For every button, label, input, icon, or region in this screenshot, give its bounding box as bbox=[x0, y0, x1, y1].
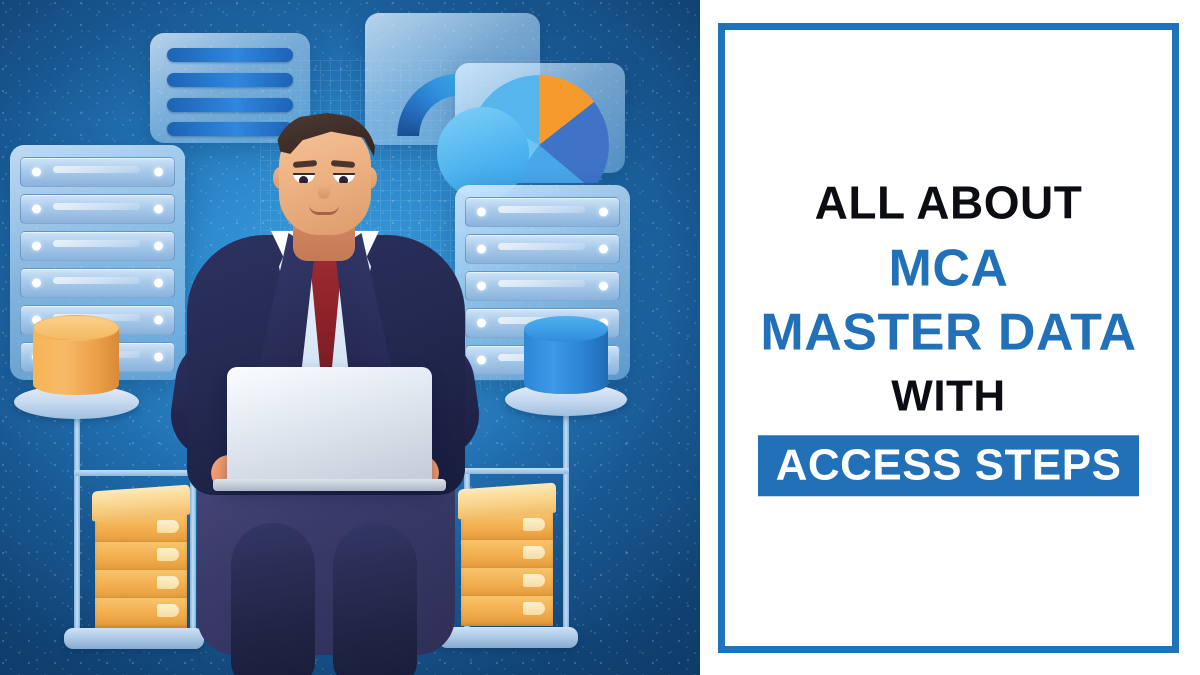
leg-left bbox=[231, 523, 315, 675]
cylinder-top bbox=[33, 315, 119, 341]
led-icon bbox=[154, 168, 163, 177]
laptop bbox=[227, 367, 432, 485]
file-notch bbox=[523, 574, 545, 587]
file-notch bbox=[523, 602, 545, 615]
led-icon bbox=[477, 282, 486, 291]
title-line-access-steps: ACCESS STEPS bbox=[758, 435, 1140, 497]
database-cylinder-blue bbox=[524, 316, 608, 408]
file-notch bbox=[523, 518, 545, 531]
title-line-master-data: MASTER DATA bbox=[741, 305, 1156, 359]
slot-strip bbox=[498, 206, 585, 213]
title-border-frame: ALL ABOUT MCA MASTER DATA WITH ACCESS ST… bbox=[718, 23, 1179, 653]
server-slot bbox=[20, 268, 175, 298]
server-slot bbox=[465, 234, 620, 264]
shelf-post-right-b bbox=[563, 468, 569, 646]
illustration-panel bbox=[0, 0, 700, 675]
led-icon bbox=[32, 242, 41, 251]
shelf-post-left-outer bbox=[74, 414, 80, 476]
led-icon bbox=[32, 205, 41, 214]
banner-root: ALL ABOUT MCA MASTER DATA WITH ACCESS ST… bbox=[0, 0, 1200, 675]
led-icon bbox=[32, 168, 41, 177]
file-tier bbox=[95, 598, 187, 628]
title-panel: ALL ABOUT MCA MASTER DATA WITH ACCESS ST… bbox=[700, 0, 1200, 675]
led-icon bbox=[599, 245, 608, 254]
server-slot bbox=[465, 197, 620, 227]
title-text-stack: ALL ABOUT MCA MASTER DATA WITH ACCESS ST… bbox=[725, 179, 1172, 496]
pie-chart-card bbox=[455, 63, 625, 173]
server-slot bbox=[20, 194, 175, 224]
led-icon bbox=[477, 319, 486, 328]
leg-right bbox=[333, 523, 417, 675]
cylinder-top bbox=[524, 316, 608, 342]
slot-strip bbox=[53, 277, 140, 284]
led-icon bbox=[154, 205, 163, 214]
server-slot bbox=[20, 157, 175, 187]
led-icon bbox=[477, 208, 486, 217]
led-icon bbox=[477, 245, 486, 254]
database-cylinder-orange bbox=[33, 315, 119, 410]
server-slot bbox=[20, 231, 175, 261]
shelf-post-right-outer bbox=[563, 412, 569, 474]
led-icon bbox=[599, 282, 608, 291]
title-line-with: WITH bbox=[741, 373, 1156, 419]
led-icon bbox=[154, 353, 163, 362]
title-line-all-about: ALL ABOUT bbox=[741, 179, 1156, 227]
businessman-figure bbox=[175, 105, 475, 675]
shelf-post-left-a bbox=[74, 470, 80, 646]
server-slot bbox=[465, 271, 620, 301]
file-notch bbox=[523, 546, 545, 559]
title-line-mca: MCA bbox=[741, 241, 1156, 295]
led-icon bbox=[154, 242, 163, 251]
title-line-access-steps-wrap: ACCESS STEPS bbox=[741, 435, 1156, 497]
slot-strip bbox=[498, 243, 585, 250]
slot-strip bbox=[53, 240, 140, 247]
document-bar-1 bbox=[167, 48, 293, 62]
laptop-base bbox=[213, 479, 446, 491]
cylinder-blue-shape bbox=[524, 316, 608, 394]
led-icon bbox=[154, 279, 163, 288]
slot-strip bbox=[53, 166, 140, 173]
led-icon bbox=[32, 279, 41, 288]
document-bar-2 bbox=[167, 73, 293, 87]
slot-strip bbox=[53, 203, 140, 210]
slot-strip bbox=[498, 280, 585, 287]
led-icon bbox=[599, 208, 608, 217]
nose bbox=[318, 185, 330, 199]
led-icon bbox=[477, 356, 486, 365]
cylinder-orange-shape bbox=[33, 315, 119, 395]
file-tier bbox=[95, 542, 187, 572]
shelf-bar-right bbox=[464, 468, 569, 474]
file-tier bbox=[95, 570, 187, 600]
led-icon bbox=[154, 316, 163, 325]
